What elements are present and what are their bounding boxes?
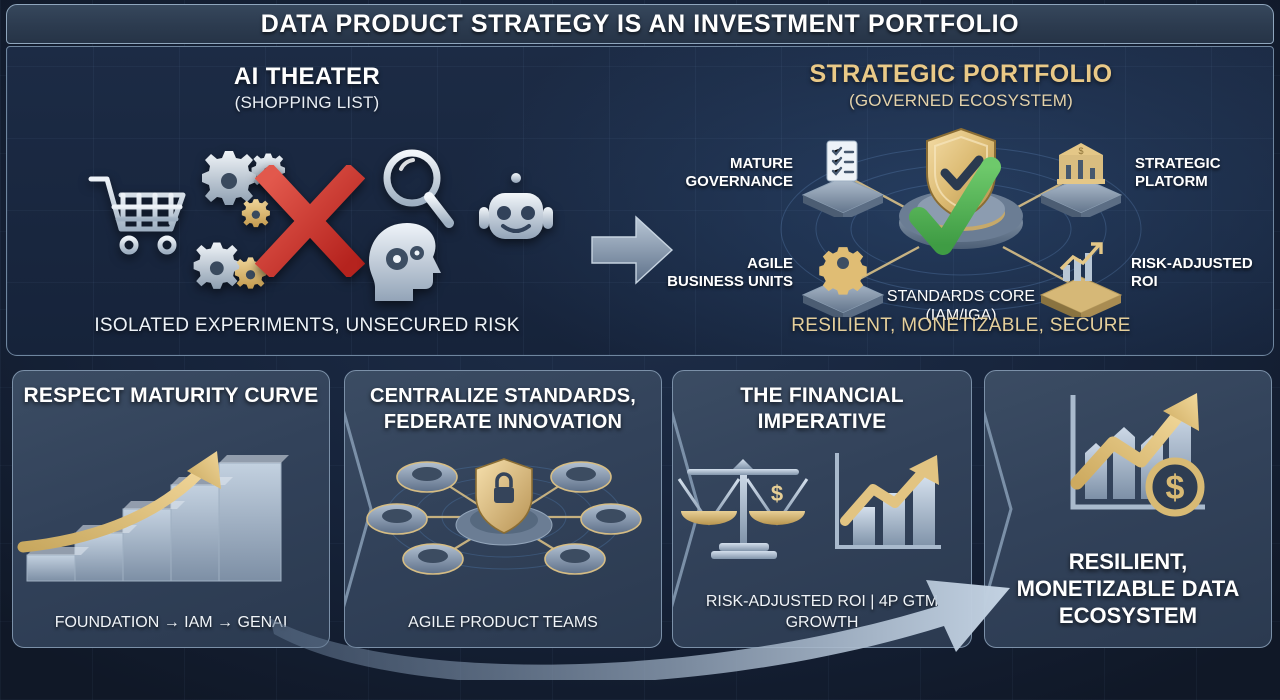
node-label-line2: PLATORM (1135, 173, 1208, 190)
card-title: THE FINANCIAL IMPERATIVE (683, 383, 961, 435)
card-caption: RISK-ADJUSTED ROI | 4P GTM GROWTH (681, 591, 963, 633)
head-with-gears-icon (359, 217, 455, 313)
node-label-line1: MATURE (730, 155, 793, 172)
stairs-with-gold-arrow-icon (13, 437, 330, 587)
card-title: CENTRALIZE STANDARDS, FEDERATE INNOVATIO… (355, 383, 651, 435)
strategic-portfolio-title: STRATEGIC PORTFOLIO (647, 60, 1274, 89)
scales-and-growth-chart-icon: $ (673, 445, 972, 575)
bank-chart-icon: $ (1035, 139, 1127, 217)
strategic-portfolio-caption: RESILIENT, MONETIZABLE, SECURE (647, 315, 1274, 337)
shopping-cart-icon (87, 169, 195, 265)
svg-text:$: $ (1078, 146, 1083, 156)
card-title: RESILIENT, MONETIZABLE DATA ECOSYSTEM (991, 548, 1265, 629)
svg-text:$: $ (1166, 469, 1185, 507)
node-label-mature-governance: MATURE GOVERNANCE (655, 155, 793, 191)
card-resilient-data-ecosystem[interactable]: $ RESILIENT, MONETIZABLE DATA ECOSYSTEM (984, 370, 1272, 648)
top-comparison-panel: AI THEATER (SHOPPING LIST) (6, 46, 1274, 356)
red-x-icon (255, 165, 365, 277)
ai-theater-title: AI THEATER (7, 63, 607, 91)
card-centralize-standards[interactable]: CENTRALIZE STANDARDS, FEDERATE INNOVATIO… (344, 370, 662, 648)
ai-theater-section: AI THEATER (SHOPPING LIST) (7, 47, 607, 356)
node-label-line1: STRATEGIC (1135, 155, 1221, 172)
header-bar: DATA PRODUCT STRATEGY IS AN INVESTMENT P… (6, 4, 1274, 44)
ai-theater-icon-cluster (7, 147, 607, 297)
node-label-strategic-platform: STRATEGIC PLATORM (1135, 155, 1265, 191)
node-label-risk-adjusted-roi: RISK-ADJUSTED ROI (1131, 255, 1271, 291)
card-respect-maturity-curve[interactable]: RESPECT MATURITY CURVE (12, 370, 330, 648)
card-caption: AGILE PRODUCT TEAMS (353, 612, 653, 633)
strategic-portfolio-section: STRATEGIC PORTFOLIO (GOVERNED ECOSYSTEM) (647, 47, 1274, 356)
core-label-line1: STANDARDS CORE (887, 288, 1035, 305)
page-title: DATA PRODUCT STRATEGY IS AN INVESTMENT P… (261, 10, 1019, 39)
shield-lock-network-icon (345, 443, 662, 583)
bar-chart-arrow-dollar-icon: $ (985, 387, 1272, 527)
robot-icon (479, 173, 553, 263)
card-caption: FOUNDATION → IAM → GENAI (21, 612, 321, 633)
governed-ecosystem-hub: MATURE GOVERNANCE $ STRATEGIC PLATORM (647, 107, 1274, 337)
node-label-agile-business-units: AGILE BUSINESS UNITS (647, 255, 793, 291)
node-label-line2: GOVERNANCE (685, 173, 793, 190)
node-label-line1: AGILE (747, 255, 793, 272)
ai-theater-subtitle: (SHOPPING LIST) (7, 93, 607, 113)
card-title: RESPECT MATURITY CURVE (23, 383, 319, 409)
card-financial-imperative[interactable]: THE FINANCIAL IMPERATIVE $ (672, 370, 972, 648)
standards-core-icon (891, 113, 1031, 283)
infographic-canvas: DATA PRODUCT STRATEGY IS AN INVESTMENT P… (0, 0, 1280, 700)
pillar-cards: RESPECT MATURITY CURVE (0, 366, 1280, 656)
node-label-line1: RISK-ADJUSTED (1131, 255, 1253, 272)
svg-text:$: $ (771, 481, 783, 506)
checklist-clipboard-icon (797, 139, 889, 217)
ai-theater-caption: ISOLATED EXPERIMENTS, UNSECURED RISK (7, 315, 607, 337)
